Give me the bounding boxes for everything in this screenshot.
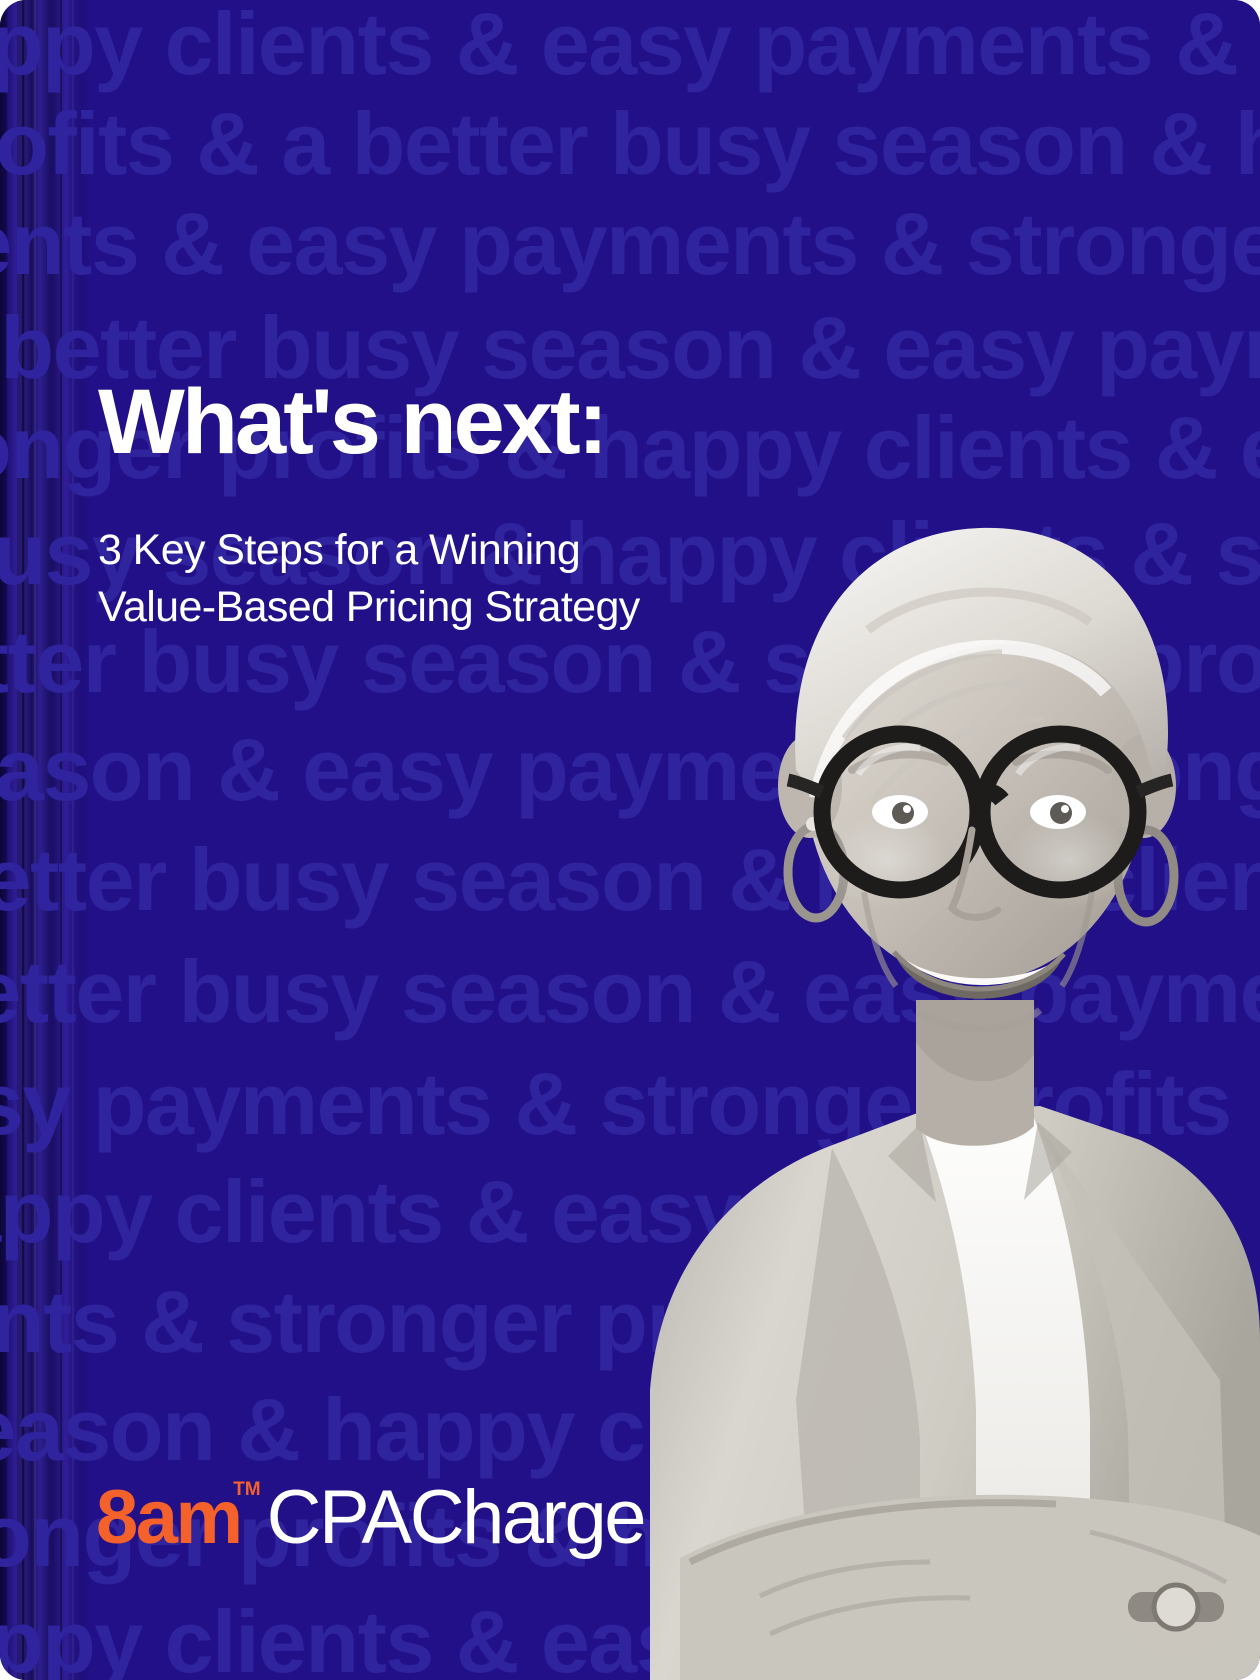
subtitle-line-1: 3 Key Steps for a Winning [98,522,738,579]
trademark-icon: TM [233,1480,260,1499]
cover-content: What's next: 3 Key Steps for a Winning V… [98,0,798,1680]
cover-subtitle: 3 Key Steps for a Winning Value-Based Pr… [98,522,738,636]
brand-logo: 8am TM CPACharge [96,1484,644,1552]
page-title: What's next: [98,376,605,468]
logo-8am-mark: 8am TM [96,1484,241,1552]
subtitle-line-2: Value-Based Pricing Strategy [98,579,738,636]
logo-8am-text: 8am [96,1475,241,1560]
logo-cpacharge-text: CPACharge [267,1484,644,1552]
ebook-cover: happy clients & easy payments & stronger… [0,0,1260,1680]
